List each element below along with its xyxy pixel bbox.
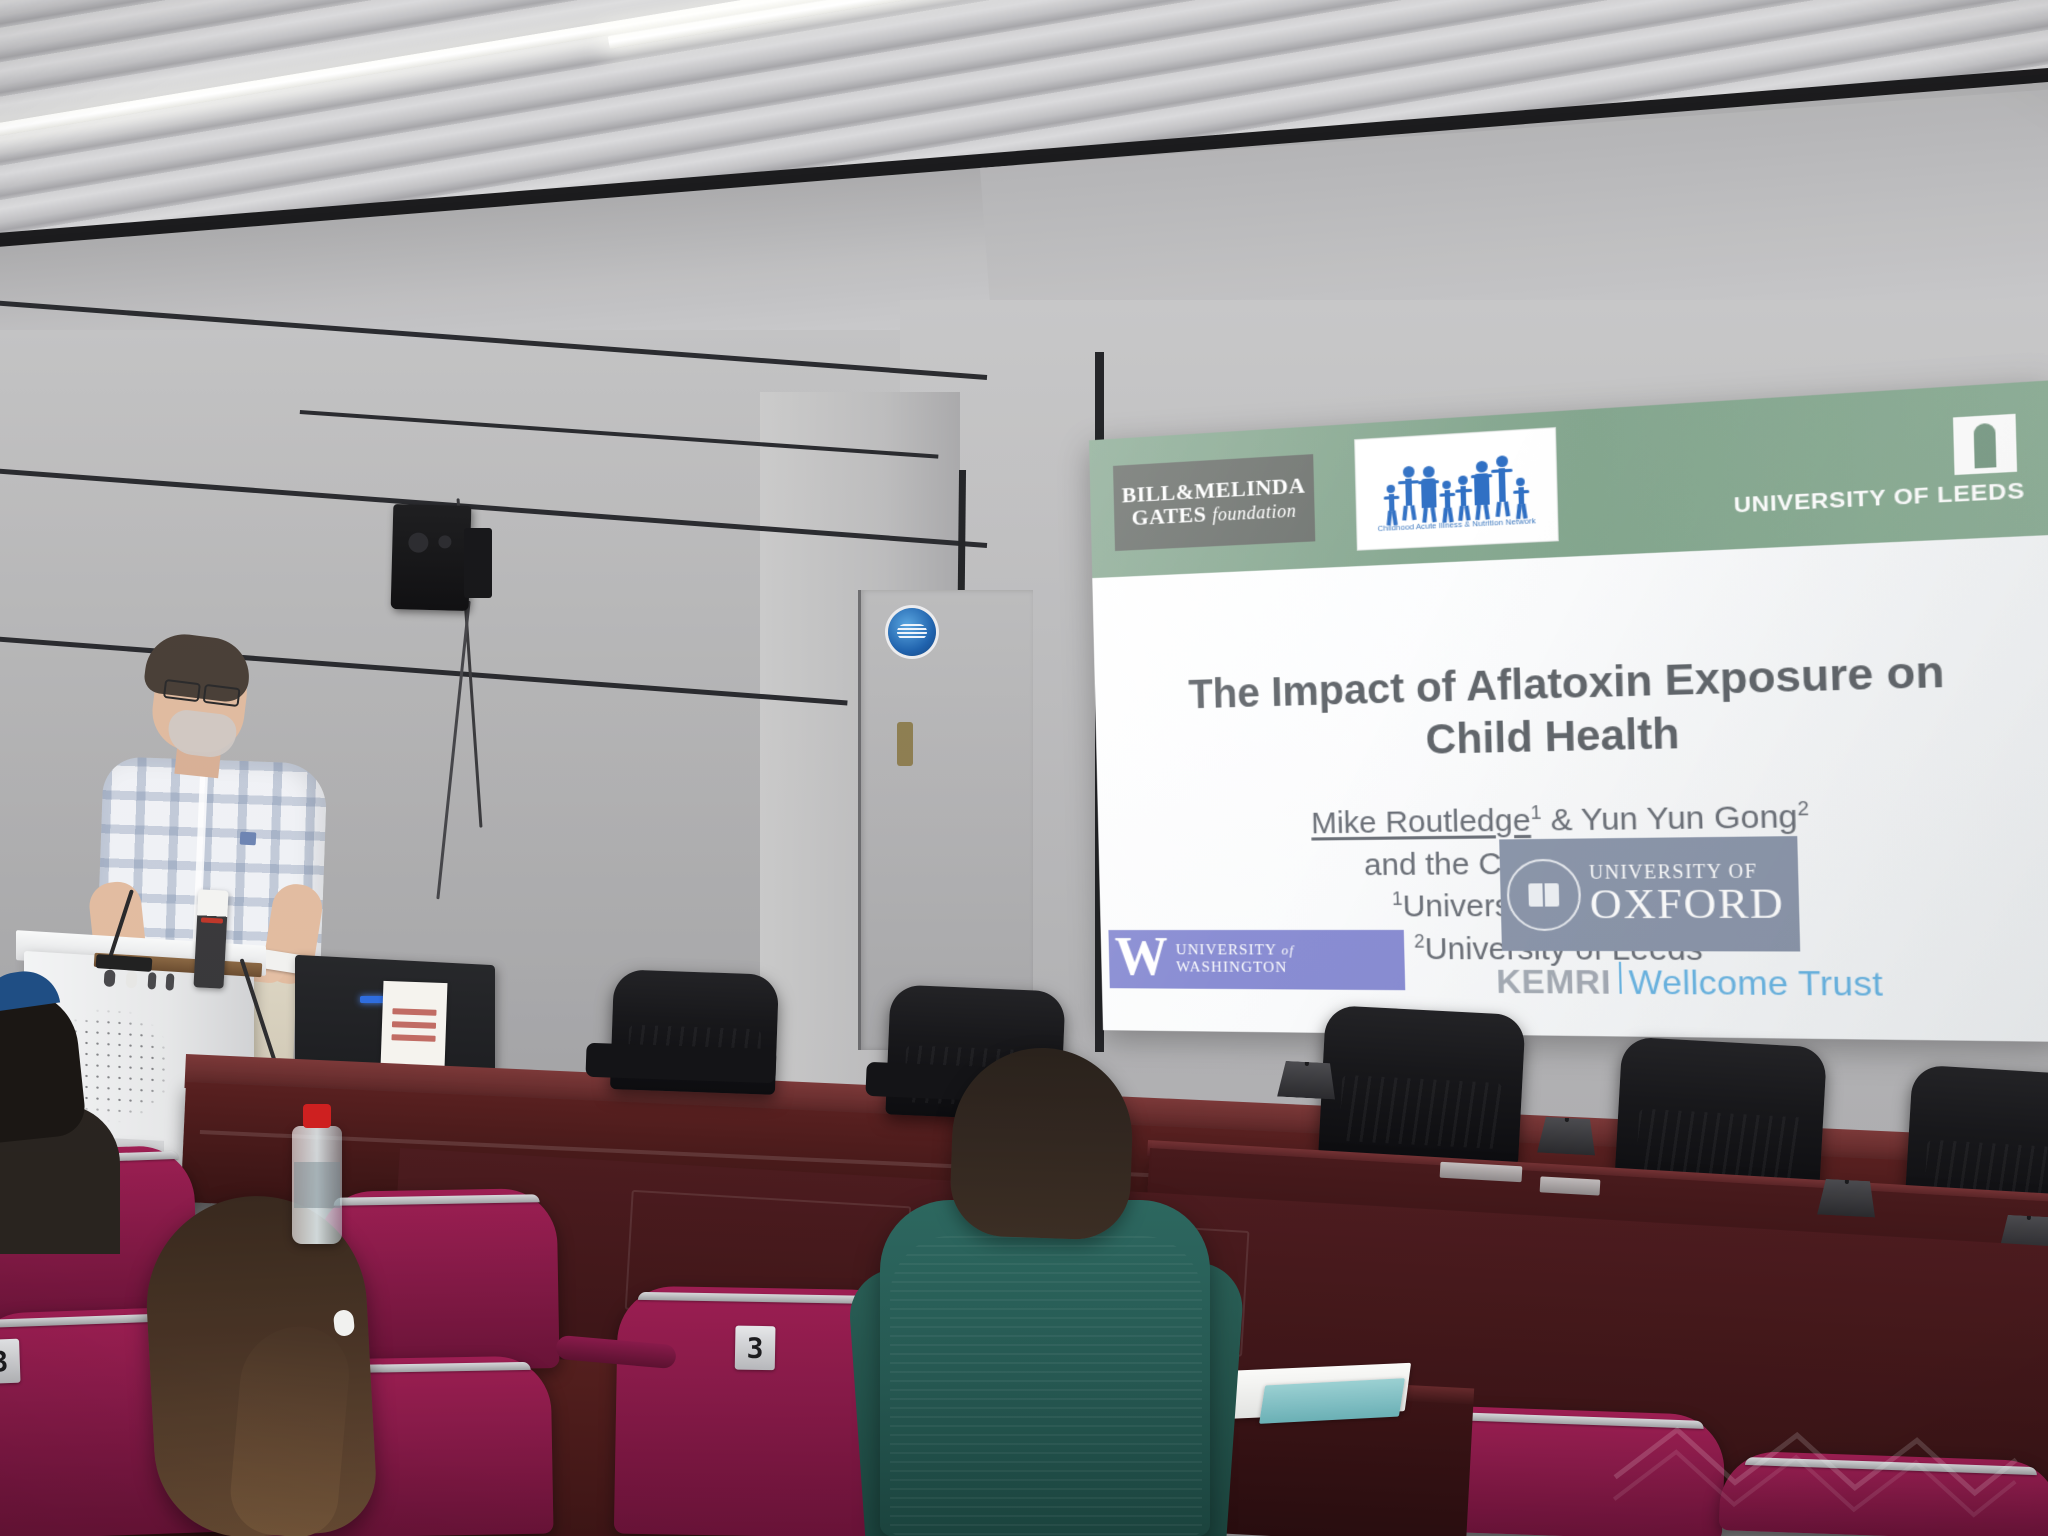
chain-figure — [1492, 455, 1513, 516]
uw-text-main: UNIVERSITY — [1176, 942, 1277, 958]
university-of-leeds-logo: UNIVERSITY OF LEEDS — [1732, 413, 2025, 519]
chain-figure — [1439, 480, 1455, 518]
uw-text-of: of — [1281, 942, 1294, 957]
chain-figure — [1513, 477, 1529, 515]
chain-figure — [1383, 484, 1399, 521]
speaker-cone — [408, 532, 429, 553]
chain-figures-group — [1382, 434, 1528, 521]
leeds-shield-icon — [1953, 414, 2017, 475]
presentation-slide: BILL&MELINDA GATES foundation — [1089, 380, 2048, 1042]
slide-body: The Impact of Aflatoxin Exposure on Chil… — [1092, 535, 2048, 1042]
chinese-notice-sign — [381, 981, 448, 1069]
wall-speaker — [391, 504, 472, 611]
lectern-slot[interactable] — [104, 969, 116, 987]
oxford-crest-icon — [1506, 859, 1582, 931]
author-primary-affil-marker: 1 — [1530, 802, 1541, 823]
slide-footer-logos: W UNIVERSITY of WASHINGTON UNIVERSITY OF — [1098, 820, 2048, 1022]
gates-logo-line2-main: GATES — [1131, 501, 1206, 530]
kemri-divider — [1618, 962, 1621, 994]
bill-and-melinda-gates-foundation-logo: BILL&MELINDA GATES foundation — [1113, 454, 1315, 551]
bottle-cap — [303, 1104, 331, 1128]
uw-text-rest: WASHINGTON — [1176, 959, 1288, 976]
slide-title: The Impact of Aflatoxin Exposure on Chil… — [1157, 645, 1983, 772]
lectern-slot[interactable] — [126, 971, 138, 989]
seat-chrome-rail — [333, 1194, 540, 1206]
chain-network-logo: Childhood Acute Illness & Nutrition Netw… — [1354, 427, 1559, 551]
bottle-label — [294, 1162, 340, 1208]
table-microphone-unit[interactable] — [1537, 1117, 1597, 1156]
presenter-shirt-pocket — [240, 832, 257, 846]
seat-chrome-rail — [638, 1292, 888, 1304]
projection-screen: BILL&MELINDA GATES foundation — [1089, 380, 2048, 1042]
kemri-wellcome-trust-logo: KEMRI Wellcome Trust — [1496, 961, 1884, 1004]
panel-chair-seat — [585, 1043, 776, 1084]
seat-back-ornament-panel — [1603, 1387, 2028, 1535]
oxford-line-2: OXFORD — [1589, 881, 1785, 927]
wellcome-trust-wordmark: Wellcome Trust — [1628, 963, 1883, 1005]
lectern-remote-holder[interactable] — [193, 889, 228, 988]
chain-figure — [1472, 460, 1493, 517]
oxford-open-book-icon — [1528, 883, 1559, 906]
seat-number-plate: 3 — [735, 1326, 776, 1371]
hall-door[interactable] — [858, 590, 1033, 1050]
sweater-knit-texture — [890, 1236, 1202, 1536]
university-of-oxford-logo: UNIVERSITY OF OXFORD — [1499, 836, 1800, 951]
water-bottle[interactable] — [292, 1126, 342, 1244]
desk-teal-item — [1259, 1378, 1405, 1424]
notice-sign-line — [392, 1008, 437, 1016]
lectern-slot[interactable] — [165, 973, 174, 990]
university-of-washington-logo: W UNIVERSITY of WASHINGTON — [1108, 930, 1405, 990]
table-microphone-unit[interactable] — [1277, 1061, 1337, 1100]
speaker-tweeter — [438, 535, 451, 548]
chain-figure — [1419, 466, 1439, 520]
panel-chair[interactable] — [1318, 1005, 1526, 1165]
lectern-slot[interactable] — [147, 972, 156, 989]
chain-figure — [1399, 466, 1419, 521]
table-nameplate — [1540, 1176, 1601, 1195]
chain-figure — [1455, 475, 1472, 518]
table-microphone-unit[interactable] — [1817, 1179, 1877, 1218]
oxford-logo-text: UNIVERSITY OF OXFORD — [1589, 861, 1785, 927]
gates-logo-foundation-word: foundation — [1212, 500, 1296, 525]
uw-w-mark: W — [1108, 929, 1176, 990]
institutional-emblem — [888, 608, 936, 656]
leeds-logo-text: UNIVERSITY OF LEEDS — [1734, 478, 2026, 519]
notice-sign-line — [392, 1021, 437, 1029]
door-handle[interactable] — [897, 722, 913, 766]
seat-number-plate: 3 — [0, 1339, 21, 1384]
notice-sign-line — [391, 1034, 436, 1042]
speaker-bracket — [464, 528, 492, 598]
kemri-wordmark: KEMRI — [1496, 962, 1612, 1002]
lecture-hall-photo: BILL&MELINDA GATES foundation — [0, 0, 2048, 1536]
author-secondary-affil-marker: 2 — [1797, 798, 1809, 820]
uw-logo-text: UNIVERSITY of WASHINGTON — [1176, 942, 1405, 978]
